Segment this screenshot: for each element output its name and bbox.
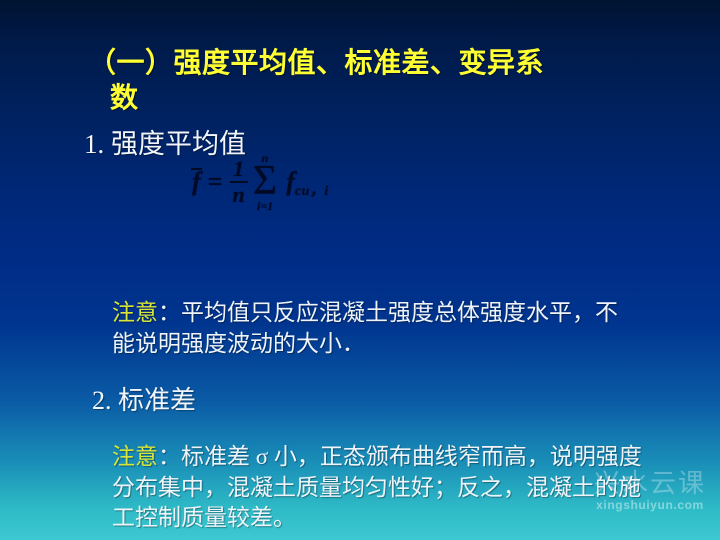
formula-equals-sign: = <box>208 167 223 197</box>
formula-lhs-f-bar: f <box>190 167 203 197</box>
section-heading-2: 2. 标准差 <box>92 380 196 417</box>
page-title: （一）强度平均值、标准差、变异系 数 <box>88 46 628 116</box>
summand-base: f <box>286 167 295 197</box>
fraction-numerator: 1 <box>230 158 247 181</box>
summand-subscript: cu，i <box>295 180 329 200</box>
formula-lhs-symbol: f <box>192 167 201 196</box>
fraction-denominator: n <box>230 183 248 206</box>
formula-summand: f cu，i <box>286 167 329 197</box>
summation-operator: n Σ i=1 <box>253 152 277 212</box>
note-1-body: ：平均值只反应混凝土强度总体强度水平，不能说明强度波动的大小． <box>112 300 618 356</box>
sigma-icon: Σ <box>253 164 277 200</box>
note-2-body: ：标准差 σ 小，正态颁布曲线窄而高，说明强度分布集中，混凝土质量均匀性好；反之… <box>112 444 642 530</box>
note-1-lead-label: 注意 <box>112 300 158 325</box>
formula-fraction-one-over-n: 1 n <box>230 158 248 206</box>
title-line-2: 数 <box>88 81 628 116</box>
presentation-slide: （一）强度平均值、标准差、变异系 数 1. 强度平均值 f = 1 n n Σ … <box>0 0 720 540</box>
mean-strength-formula: f = 1 n n Σ i=1 f cu，i <box>190 152 329 212</box>
summation-lower-limit: i=1 <box>257 200 273 212</box>
note-block-2: 注意：标准差 σ 小，正态颁布曲线窄而高，说明强度分布集中，混凝土质量均匀性好；… <box>112 442 652 534</box>
note-block-1: 注意：平均值只反应混凝土强度总体强度水平，不能说明强度波动的大小． <box>112 298 632 359</box>
title-line-1: （一）强度平均值、标准差、变异系 <box>88 46 628 81</box>
note-2-lead-label: 注意 <box>112 444 158 469</box>
overbar-decoration <box>191 168 202 170</box>
